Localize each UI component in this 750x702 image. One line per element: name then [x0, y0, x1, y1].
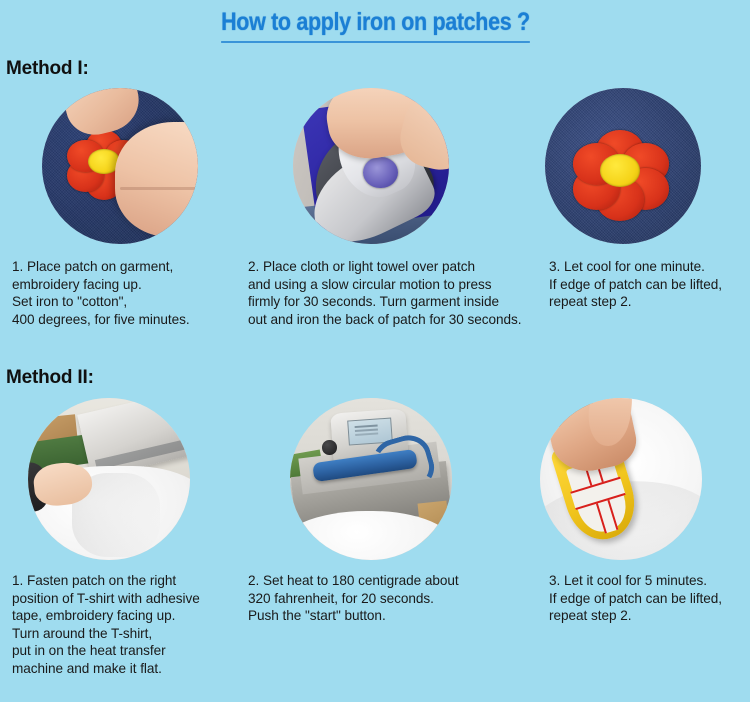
method-1-heading: Method I: — [6, 58, 89, 80]
caption-method1-step1: 1. Place patch on garment, embroidery fa… — [12, 258, 242, 328]
caption-method1-step2: 2. Place cloth or light towel over patch… — [248, 258, 548, 328]
press-knob — [322, 440, 337, 455]
photo-method2-step2 — [290, 398, 452, 560]
flower-patch-icon — [576, 132, 664, 210]
caption-method2-step2: 2. Set heat to 180 centigrade about 320 … — [248, 572, 538, 625]
caption-method2-step3: 3. Let it cool for 5 minutes. If edge of… — [549, 572, 749, 625]
page-title: How to apply iron on patches ? — [221, 8, 530, 43]
iron-dial — [363, 157, 397, 188]
photo-method2-step1 — [28, 398, 190, 560]
photo-method1-step3 — [545, 88, 701, 244]
caption-method1-step3: 3. Let cool for one minute. If edge of p… — [549, 258, 749, 311]
caption-method2-step1: 1. Fasten patch on the right position of… — [12, 572, 242, 678]
photo-method1-step2 — [293, 88, 449, 244]
title-bar: How to apply iron on patches ? — [0, 8, 750, 43]
photo-method2-step3: DORSET — [540, 398, 702, 560]
photo-method1-step1 — [42, 88, 198, 244]
method-2-heading: Method II: — [6, 367, 94, 389]
